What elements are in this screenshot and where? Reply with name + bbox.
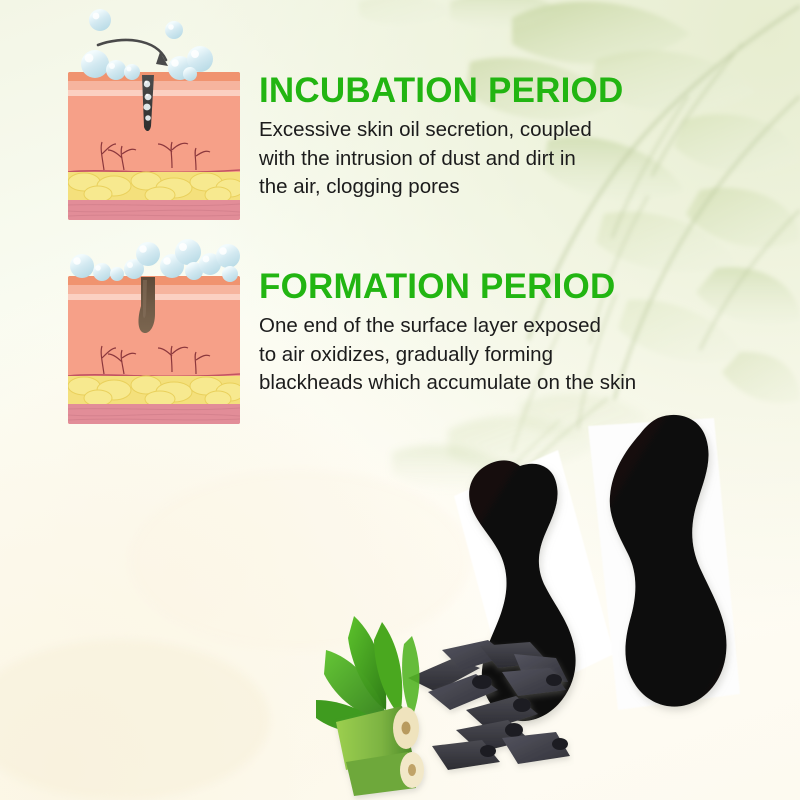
body-line: the air, clogging pores [259, 173, 679, 201]
bamboo-charcoal-group [316, 606, 574, 800]
heading-formation: FORMATION PERIOD [259, 268, 709, 305]
section-formation: FORMATION PERIOD One end of the surface … [259, 268, 709, 398]
skin-diagram-formation [62, 236, 246, 428]
bubble-group [70, 239, 240, 282]
body-line: with the intrusion of dust and dirt in [259, 145, 679, 173]
skin-diagram-incubation [62, 2, 246, 224]
body-line: One end of the surface layer exposed [259, 312, 709, 340]
body-incubation: Excessive skin oil secretion, coupled wi… [259, 116, 679, 201]
infographic-page: INCUBATION PERIOD Excessive skin oil sec… [0, 0, 800, 800]
body-line: Excessive skin oil secretion, coupled [259, 116, 679, 144]
body-line: to air oxidizes, gradually forming [259, 341, 709, 369]
section-incubation: INCUBATION PERIOD Excessive skin oil sec… [259, 72, 679, 202]
body-line: blackheads which accumulate on the skin [259, 369, 709, 397]
bamboo-stalks [336, 706, 424, 796]
heading-incubation: INCUBATION PERIOD [259, 72, 679, 109]
body-formation: One end of the surface layer exposed to … [259, 312, 709, 397]
